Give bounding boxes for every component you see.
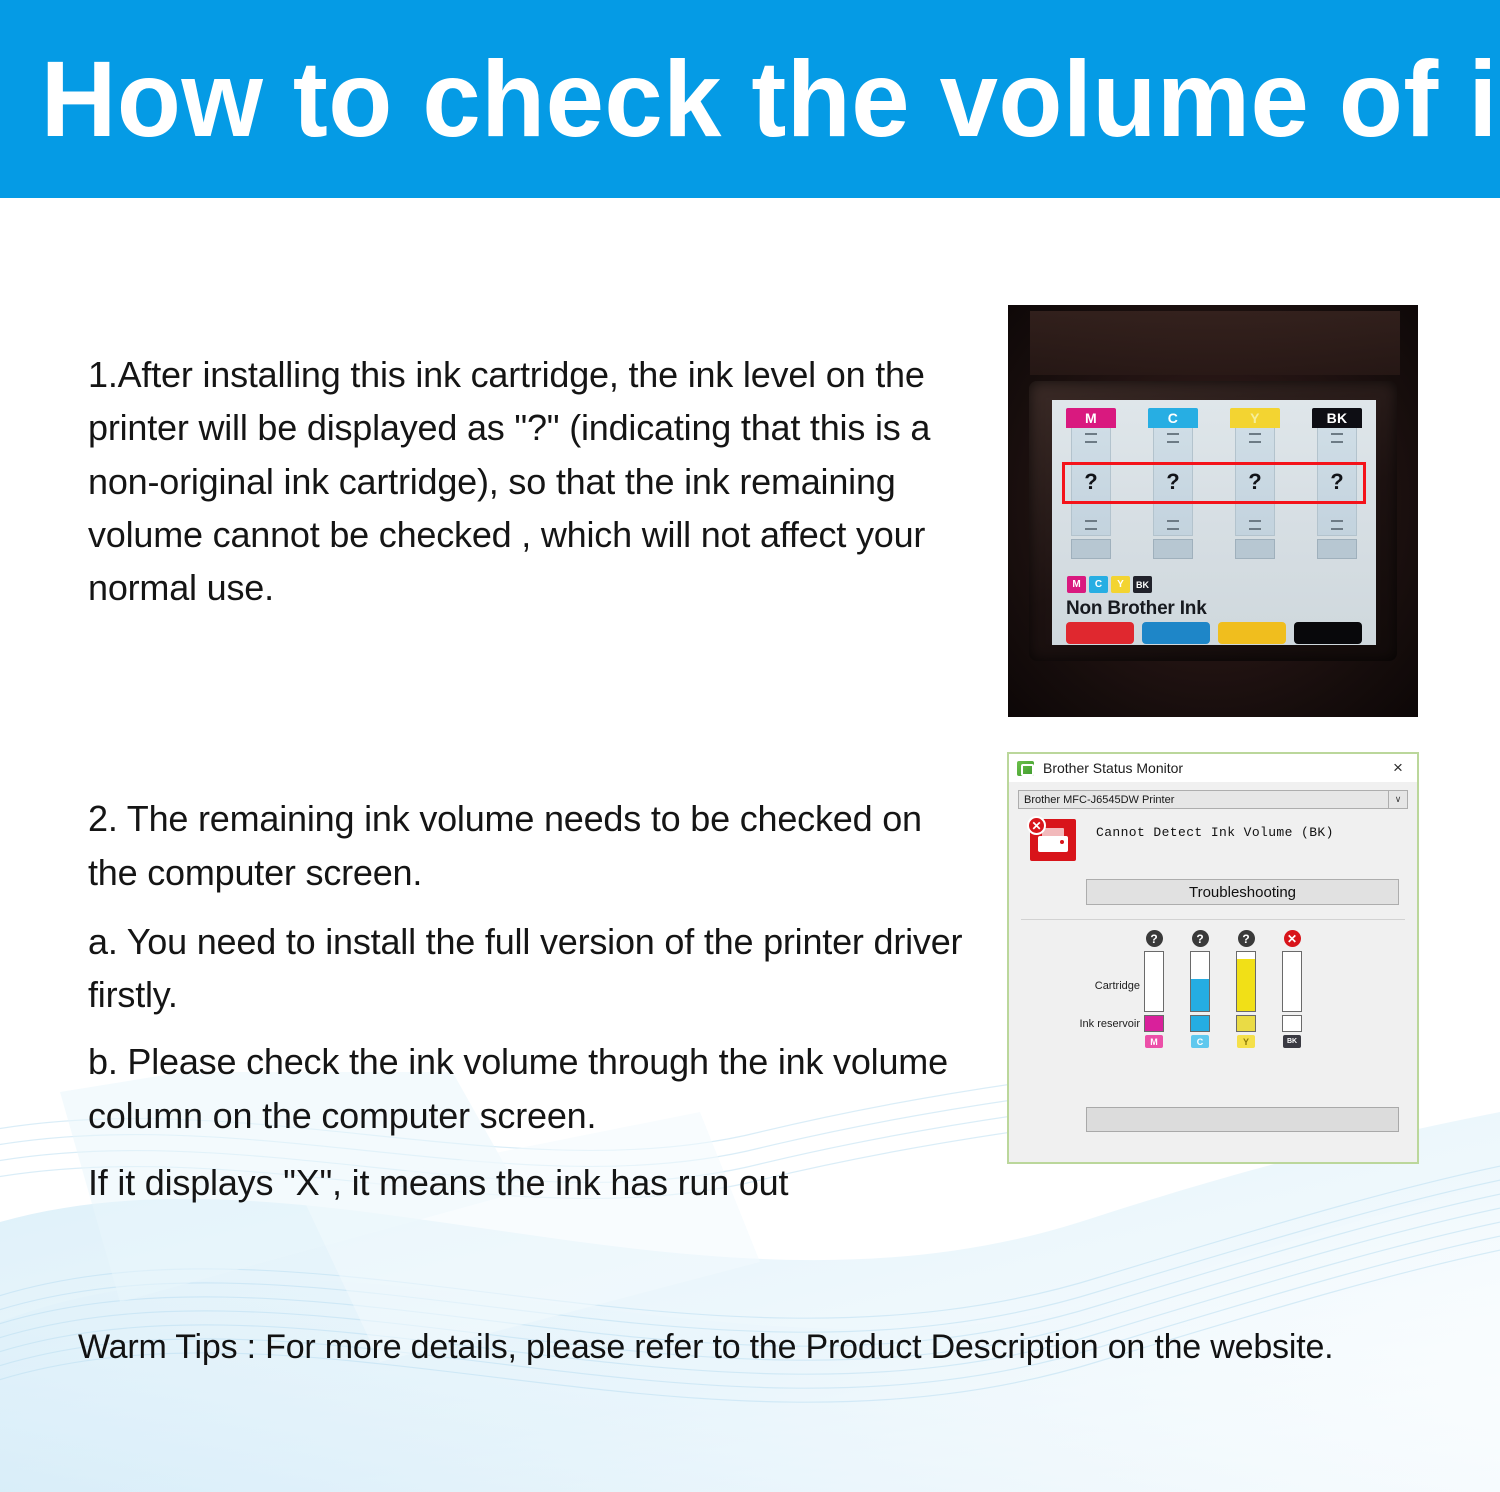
ink-cap-label-bk: BK	[1312, 408, 1362, 428]
error-x-icon: ✕	[1027, 816, 1046, 835]
bottom-action-button[interactable]	[1086, 1107, 1399, 1132]
cartridge-gauge-m	[1144, 951, 1164, 1012]
status-unknown-icon-c: ?	[1192, 930, 1209, 947]
tick-marks-bottom-y	[1249, 520, 1261, 530]
lcd-cartridge-buttons	[1066, 622, 1362, 644]
reservoir-gauge-m	[1144, 1015, 1164, 1032]
gauge-tag-bk: BK	[1283, 1035, 1301, 1048]
page-header-banner: How to check the volume of ink	[0, 0, 1500, 198]
status-unknown-icon-m: ?	[1146, 930, 1163, 947]
ink-foot-y	[1235, 539, 1275, 559]
ink-foot-m	[1071, 539, 1111, 559]
badge-bk: BK	[1133, 576, 1152, 593]
ink-body-m: ?	[1071, 428, 1111, 536]
window-title: Brother Status Monitor	[1043, 760, 1183, 776]
ink-cap-label-y: Y	[1230, 408, 1280, 428]
status-unknown-icon-y: ?	[1238, 930, 1255, 947]
step-1-text: 1.After installing this ink cartridge, t…	[88, 348, 948, 614]
gauge-black: ✕ BK	[1280, 930, 1304, 1060]
tick-marks-bottom-m	[1085, 520, 1097, 530]
ink-value-y: ?	[1248, 471, 1261, 493]
ink-value-c: ?	[1166, 471, 1179, 493]
ink-body-bk: ?	[1317, 428, 1357, 536]
ink-cap-label-c: C	[1148, 408, 1198, 428]
gauge-yellow: ? Y	[1234, 930, 1258, 1060]
tick-marks-top-bk	[1331, 433, 1343, 443]
cyan-cartridge-button[interactable]	[1142, 622, 1210, 644]
reservoir-gauge-c	[1190, 1015, 1210, 1032]
ink-column-yellow: Y ?	[1230, 408, 1280, 568]
tick-marks-bottom-bk	[1331, 520, 1343, 530]
gauge-row-labels: Cartridge Ink reservoir	[1018, 930, 1140, 1060]
ink-column-black: BK ?	[1312, 408, 1362, 568]
gauge-row: ? M ?	[1142, 930, 1412, 1060]
magenta-cartridge-button[interactable]	[1066, 622, 1134, 644]
badge-c: C	[1089, 576, 1108, 593]
ink-value-bk: ?	[1330, 471, 1343, 493]
brother-app-icon	[1017, 761, 1034, 776]
window-body: Brother MFC-J6545DW Printer ∨ ✕ Cannot D…	[1009, 782, 1417, 1164]
window-titlebar: Brother Status Monitor ×	[1009, 754, 1417, 782]
status-error-icon-bk: ✕	[1284, 930, 1301, 947]
printer-error-icon: ✕	[1030, 819, 1076, 861]
tick-marks-top-y	[1249, 433, 1261, 443]
ink-column-cyan: C ?	[1148, 408, 1198, 568]
instructions-column: 1.After installing this ink cartridge, t…	[88, 348, 978, 1209]
ink-column-magenta: M ?	[1066, 408, 1116, 568]
step-2c-text: If it displays "X", it means the ink has…	[88, 1156, 978, 1209]
troubleshooting-button[interactable]: Troubleshooting	[1086, 879, 1399, 905]
page-title: How to check the volume of ink	[0, 45, 1500, 153]
ink-color-badges: M C Y BK	[1067, 576, 1152, 593]
tick-marks-bottom-c	[1167, 520, 1179, 530]
non-brother-ink-message: Non Brother Ink	[1066, 598, 1207, 620]
cartridge-gauge-y	[1236, 951, 1256, 1012]
tick-marks-top-c	[1167, 433, 1179, 443]
brother-status-monitor-window: Brother Status Monitor × Brother MFC-J65…	[1007, 752, 1419, 1164]
gauge-tag-y: Y	[1237, 1035, 1255, 1048]
cartridge-gauge-bk	[1282, 951, 1302, 1012]
ink-level-columns: M ? C ?	[1066, 408, 1362, 568]
lcd-screen: M ? C ?	[1052, 400, 1376, 645]
printer-body-top	[1030, 311, 1400, 375]
printer-select-dropdown[interactable]: Brother MFC-J6545DW Printer ∨	[1018, 790, 1408, 809]
printer-lcd-photo: M ? C ?	[1008, 305, 1418, 717]
step-2a-text: a. You need to install the full version …	[88, 915, 978, 1022]
ink-body-y: ?	[1235, 428, 1275, 536]
badge-y: Y	[1111, 576, 1130, 593]
yellow-cartridge-button[interactable]	[1218, 622, 1286, 644]
cartridge-gauge-c	[1190, 951, 1210, 1012]
ink-foot-bk	[1317, 539, 1357, 559]
printer-select-value: Brother MFC-J6545DW Printer	[1019, 794, 1388, 806]
step-2-text: 2. The remaining ink volume needs to be …	[88, 792, 978, 899]
black-cartridge-button[interactable]	[1294, 622, 1362, 644]
tick-marks-top-m	[1085, 433, 1097, 443]
ink-cap-label-m: M	[1066, 408, 1116, 428]
section-divider	[1021, 919, 1405, 920]
ink-value-m: ?	[1084, 471, 1097, 493]
gauge-tag-m: M	[1145, 1035, 1163, 1048]
ink-gauges-section: Cartridge Ink reservoir ? M	[1018, 930, 1408, 1060]
status-row: ✕ Cannot Detect Ink Volume (BK)	[1018, 819, 1408, 867]
label-cartridge: Cartridge	[1095, 980, 1140, 992]
label-ink-reservoir: Ink reservoir	[1079, 1018, 1140, 1030]
reservoir-gauge-y	[1236, 1015, 1256, 1032]
gauge-magenta: ? M	[1142, 930, 1166, 1060]
infographic-page: How to check the volume of ink 1.After i…	[0, 0, 1500, 1492]
ink-foot-c	[1153, 539, 1193, 559]
reservoir-gauge-bk	[1282, 1015, 1302, 1032]
ink-body-c: ?	[1153, 428, 1193, 536]
status-message: Cannot Detect Ink Volume (BK)	[1096, 825, 1334, 840]
close-icon[interactable]: ×	[1387, 757, 1409, 779]
chevron-down-icon[interactable]: ∨	[1388, 791, 1407, 808]
step-2b-text: b. Please check the ink volume through t…	[88, 1035, 978, 1142]
warm-tips-text: Warm Tips : For more details, please ref…	[78, 1328, 1458, 1367]
gauge-cyan: ? C	[1188, 930, 1212, 1060]
gauge-tag-c: C	[1191, 1035, 1209, 1048]
badge-m: M	[1067, 576, 1086, 593]
